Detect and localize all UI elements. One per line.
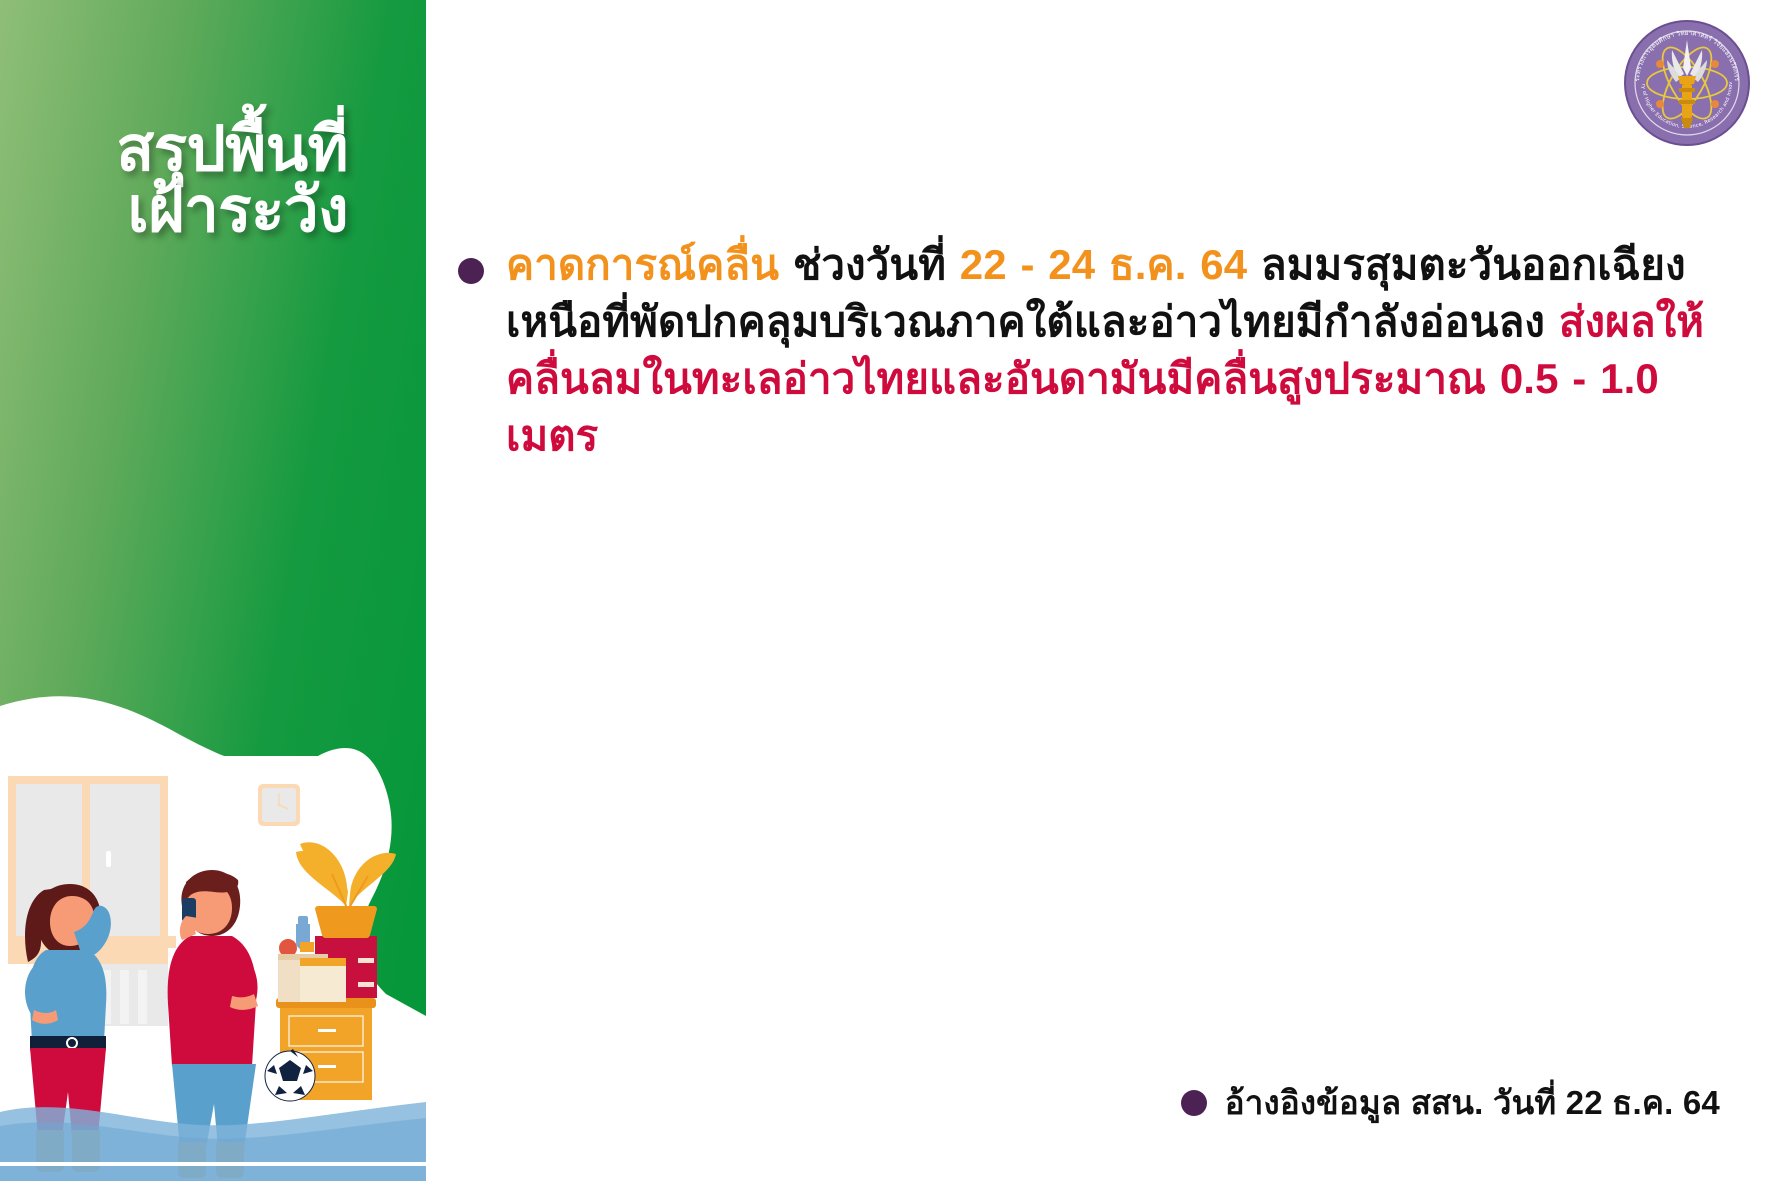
ministry-seal-logo: กระทรวงการอุดมศึกษา วิทยาศาสตร์ วิจัยและ… [1620,16,1754,150]
source-reference-footer: อ้างอิงข้อมูล สสน. วันที่ 22 ธ.ค. 64 [1181,1076,1720,1129]
page-title-line-1: สรุปพื้นที่ [18,120,348,181]
footer-source-text: อ้างอิงข้อมูล สสน. วันที่ 22 ธ.ค. 64 [1225,1076,1720,1129]
main-content: คาดการณ์คลื่น ช่วงวันที่ 22 - 24 ธ.ค. 64… [448,236,1728,464]
forecast-body-text: คาดการณ์คลื่น ช่วงวันที่ 22 - 24 ธ.ค. 64… [506,236,1728,464]
page-title-line-2: เฝ้าระวัง [18,181,348,242]
page-title: สรุปพื้นที่ เฝ้าระวัง [18,120,348,242]
bullet-point-icon [458,258,484,284]
forecast-bullet-item: คาดการณ์คลื่น ช่วงวันที่ 22 - 24 ธ.ค. 64… [448,236,1728,464]
date-prefix-text: ช่วงวันที่ [793,241,960,288]
date-range-text: 22 - 24 ธ.ค. 64 [960,241,1261,288]
forecast-label-text: คาดการณ์คลื่น [506,241,793,288]
left-green-panel: สรุปพื้นที่ เฝ้าระวัง [0,0,426,1181]
flood-scene-illustration [0,606,426,1181]
footer-bullet-icon [1181,1090,1207,1116]
